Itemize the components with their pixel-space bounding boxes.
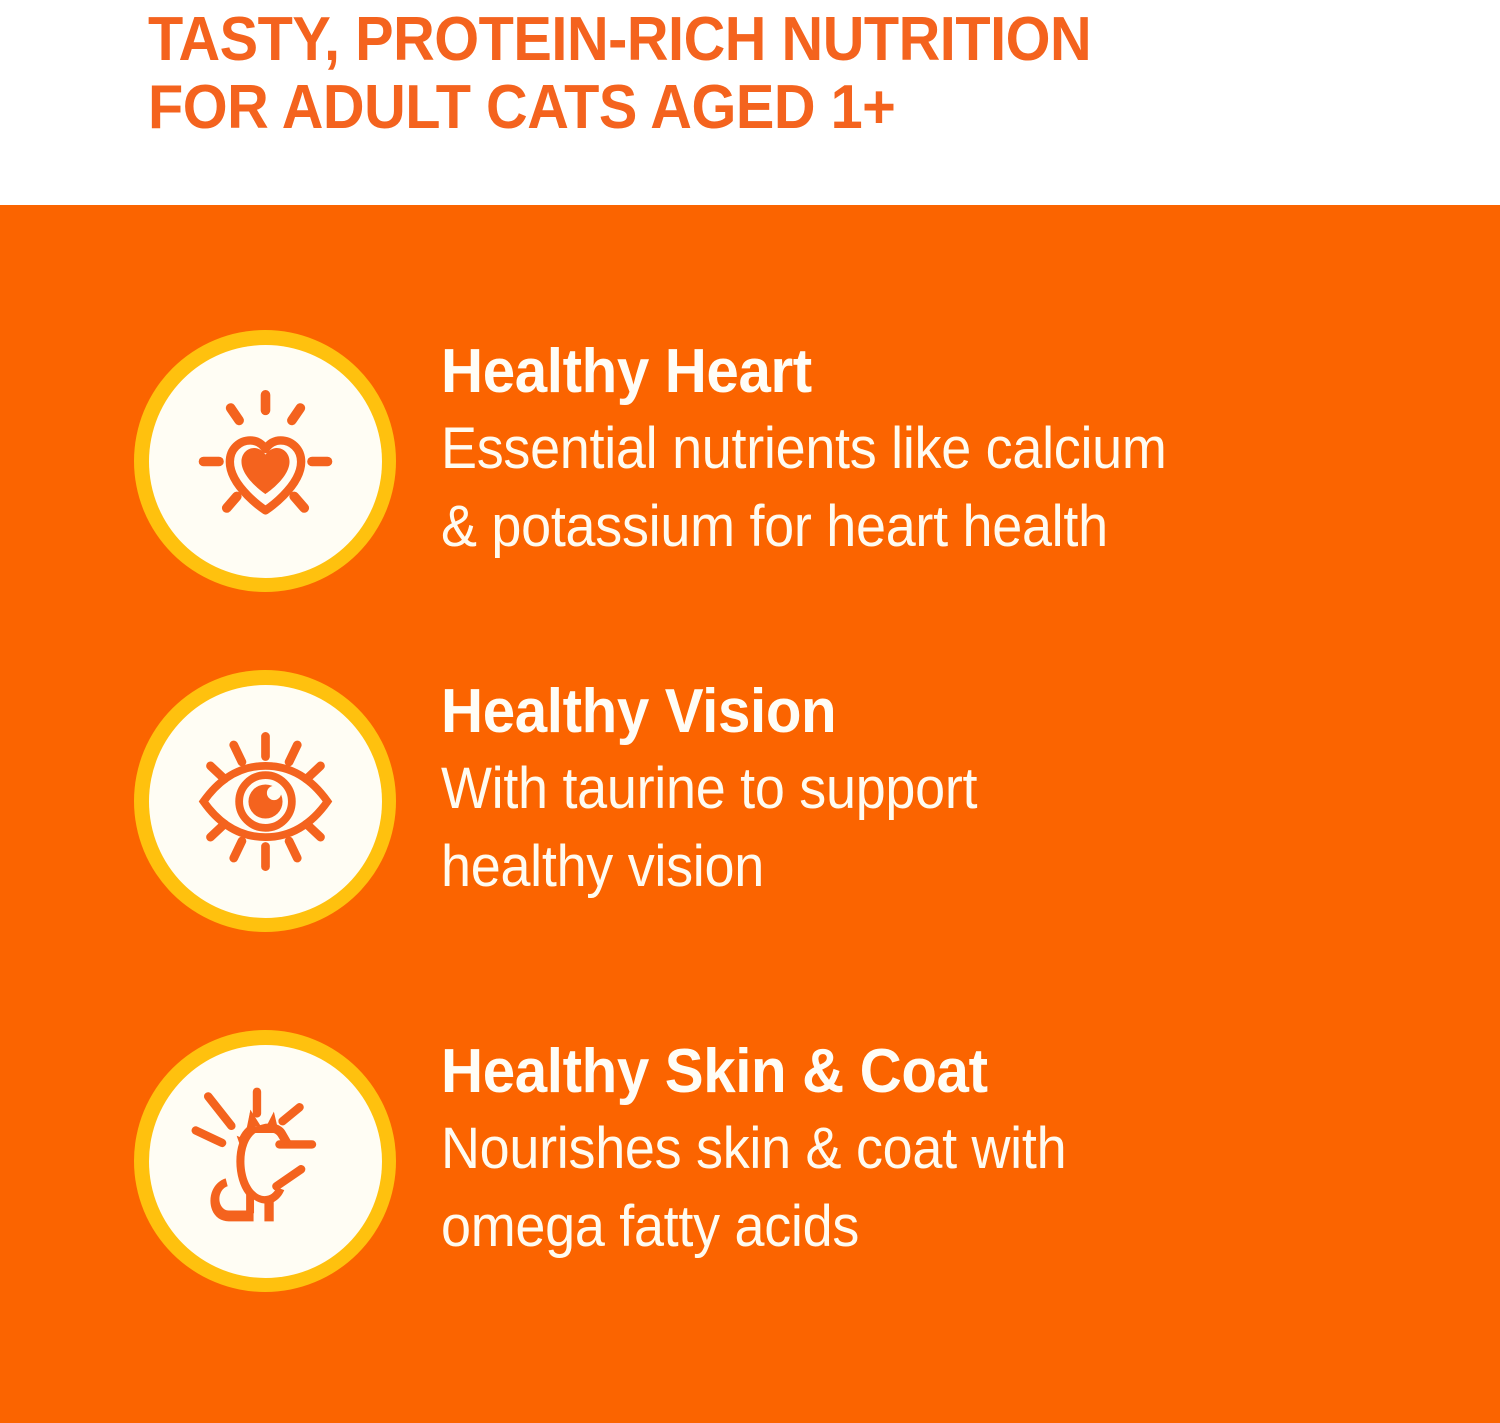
benefit-title: Healthy Skin & Coat xyxy=(441,1036,1343,1108)
benefit-item-healthy-vision: Healthy Vision With taurine to support h… xyxy=(0,670,1500,932)
benefit-item-healthy-heart: Healthy Heart Essential nutrients like c… xyxy=(0,330,1500,592)
benefit-description: Nourishes skin & coat with omega fatty a… xyxy=(441,1110,1334,1266)
benefit-copy: Healthy Heart Essential nutrients like c… xyxy=(441,330,1401,566)
benefit-title: Healthy Heart xyxy=(441,336,1343,408)
benefit-copy: Healthy Vision With taurine to support h… xyxy=(441,670,1401,906)
benefit-item-healthy-skin-coat: Healthy Skin & Coat Nourishes skin & coa… xyxy=(0,1030,1500,1292)
radiant-eye-icon xyxy=(188,724,343,879)
benefit-icon-badge xyxy=(134,1030,396,1292)
page-title: TASTY, PROTEIN-RICH NUTRITION FOR ADULT … xyxy=(148,6,1405,142)
header-banner: TASTY, PROTEIN-RICH NUTRITION FOR ADULT … xyxy=(0,0,1500,205)
benefit-icon-badge xyxy=(134,330,396,592)
benefit-description: With taurine to support healthy vision xyxy=(441,750,1334,906)
badge-inner-circle xyxy=(149,685,382,918)
benefit-title: Healthy Vision xyxy=(441,676,1343,748)
benefits-panel: Healthy Heart Essential nutrients like c… xyxy=(0,205,1500,1423)
badge-inner-circle xyxy=(149,1045,382,1278)
benefit-icon-badge xyxy=(134,670,396,932)
badge-inner-circle xyxy=(149,345,382,578)
radiant-cat-icon xyxy=(188,1084,343,1239)
benefit-description: Essential nutrients like calcium & potas… xyxy=(441,410,1334,566)
radiant-heart-icon xyxy=(188,384,343,539)
cat-food-benefits-infographic: TASTY, PROTEIN-RICH NUTRITION FOR ADULT … xyxy=(0,0,1500,1423)
benefit-copy: Healthy Skin & Coat Nourishes skin & coa… xyxy=(441,1030,1401,1266)
